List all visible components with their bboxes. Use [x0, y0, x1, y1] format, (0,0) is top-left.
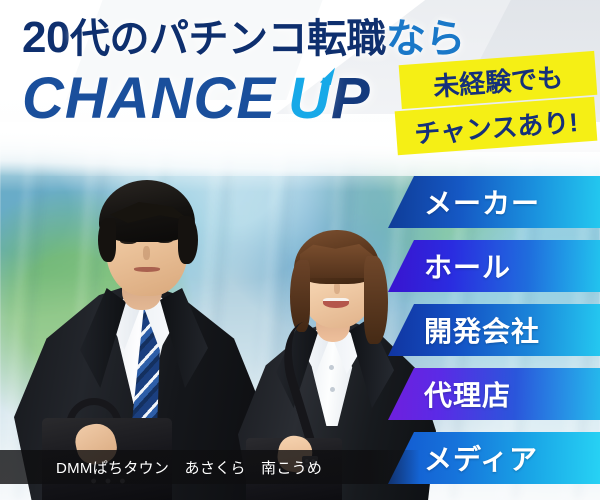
category-label-development-company: 開発会社 — [424, 310, 540, 350]
category-label-maker: メーカー — [424, 182, 540, 222]
category-button-agency[interactable]: 代理店 — [388, 368, 600, 420]
headline-chance-word: CHANCE — [22, 66, 276, 131]
category-button-development-company[interactable]: 開発会社 — [388, 304, 600, 356]
headline-up-p: P — [331, 66, 371, 131]
male-mouth — [134, 267, 160, 272]
headline-topic: パチンコ転職 — [149, 17, 386, 61]
category-button-hall[interactable]: ホール — [388, 240, 600, 292]
people-photo-group — [0, 140, 430, 500]
promo-banner: 20代のパチンコ転職なら CHANCEUP 未経験でも チャンスあり! メーカー… — [0, 0, 600, 500]
headline-line-1: 20代のパチンコ転職なら — [22, 16, 465, 60]
badge-no-experience-label: 未経験でも — [432, 57, 564, 103]
female-hair-side-right — [364, 256, 388, 344]
male-hair-side-right — [178, 216, 198, 264]
category-button-list: メーカー ホール 開発会社 代理店 メディア — [388, 176, 600, 496]
category-label-media: メディア — [424, 438, 538, 478]
female-bangs — [300, 244, 374, 278]
male-model — [14, 150, 264, 500]
male-hair-side-left — [98, 218, 116, 262]
headline-conjunction: なら — [386, 17, 465, 61]
category-label-hall: ホール — [424, 246, 511, 286]
headline-age-suffix: 代の — [70, 17, 149, 61]
credit-text: DMMぱちタウン あさくら 南こうめ — [0, 457, 322, 478]
male-nose — [143, 246, 150, 260]
category-label-agency: 代理店 — [424, 374, 511, 414]
credit-bar: DMMぱちタウン あさくら 南こうめ — [0, 450, 420, 484]
headline-up-u: U — [288, 70, 331, 128]
category-button-maker[interactable]: メーカー — [388, 176, 600, 228]
female-mouth — [323, 298, 349, 308]
headline-age-number: 20 — [22, 13, 70, 62]
badge-chance-available-label: チャンスあり! — [413, 102, 579, 151]
